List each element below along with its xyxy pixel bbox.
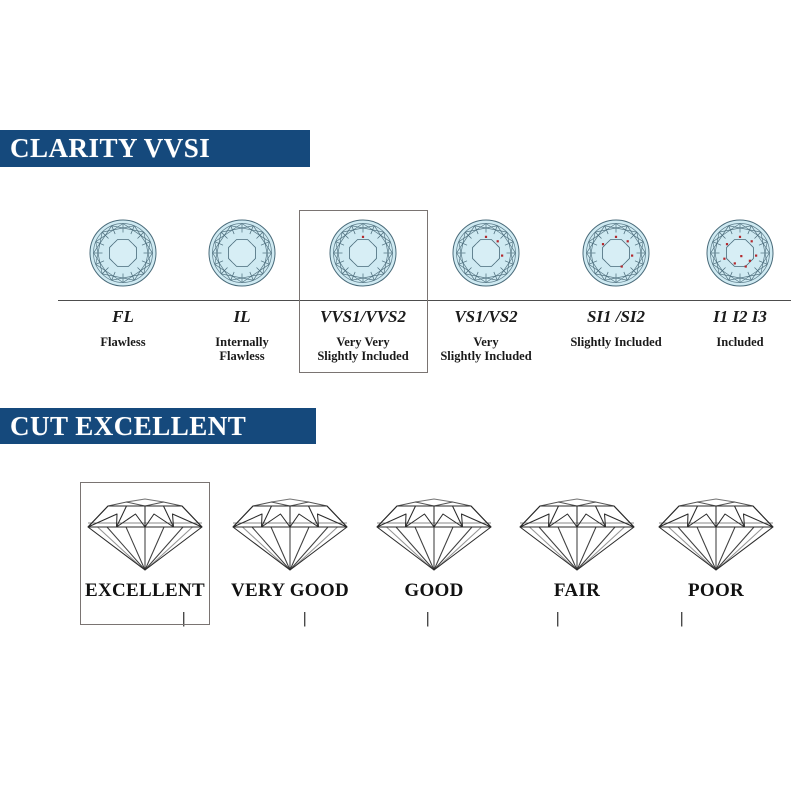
chart-canvas: CLARITY VVSI FLFlawless|ILInternally Fla… [0,0,800,800]
round-brilliant-top-view [702,215,778,291]
clarity-grade-code: IL [172,306,312,328]
clarity-grade-description: Slightly Included [546,335,686,349]
cut-banner-label: CUT EXCELLENT [10,411,246,442]
cut-grade-2: VERY GOOD [225,480,355,625]
diamond-side-view [512,480,642,578]
cut-grade-5: POOR [651,480,781,625]
cut-highlight-box-excellent [80,482,210,625]
clarity-section-banner: CLARITY VVSI [0,130,310,167]
cut-grade-label: POOR [651,580,781,602]
cut-grade-label: VERY GOOD [225,580,355,602]
clarity-grade-code: I1 I2 I3 [670,306,800,328]
clarity-banner-label: CLARITY VVSI [10,133,210,164]
clarity-grade-description: Very Slightly Included [416,335,556,363]
clarity-highlight-box-vvs [299,210,428,373]
clarity-gem-2 [204,215,280,291]
cut-grade-label: FAIR [512,580,642,602]
round-brilliant-top-view [204,215,280,291]
cut-gem-2 [225,480,355,578]
clarity-grade-6: I1 I2 I3Included [670,306,800,349]
round-brilliant-top-view [578,215,654,291]
cut-grade-label: GOOD [369,580,499,602]
diamond-side-view [369,480,499,578]
diamond-side-view [651,480,781,578]
clarity-grade-4: VS1/VS2Very Slightly Included [416,306,556,363]
cut-gem-3 [369,480,499,578]
cut-gem-5 [651,480,781,578]
clarity-gem-6 [702,215,778,291]
cut-grade-4: FAIR [512,480,642,625]
clarity-gem-1 [85,215,161,291]
cut-section-banner: CUT EXCELLENT [0,408,316,444]
clarity-grade-code: SI1 /SI2 [546,306,686,328]
round-brilliant-top-view [85,215,161,291]
cut-gem-4 [512,480,642,578]
round-brilliant-top-view [448,215,524,291]
clarity-gem-4 [448,215,524,291]
cut-grade-3: GOOD [369,480,499,625]
diamond-side-view [225,480,355,578]
clarity-grade-description: Included [670,335,800,349]
clarity-grade-code: VS1/VS2 [416,306,556,328]
clarity-grade-2: ILInternally Flawless [172,306,312,363]
clarity-gem-5 [578,215,654,291]
clarity-grade-5: SI1 /SI2Slightly Included [546,306,686,349]
clarity-grade-description: Internally Flawless [172,335,312,363]
